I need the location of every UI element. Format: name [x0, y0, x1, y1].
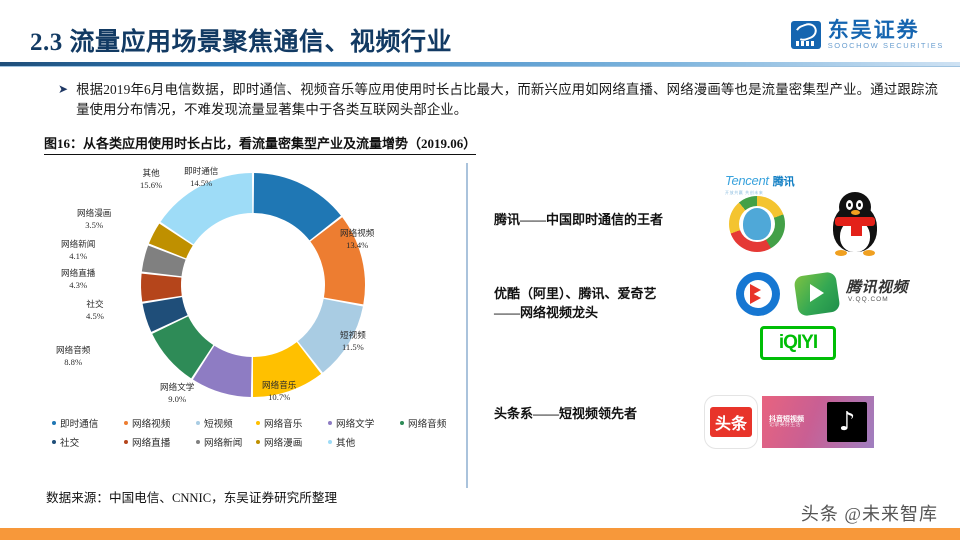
- legend-item-7[interactable]: 网络直播: [124, 435, 196, 449]
- legend-dot-icon: [124, 440, 128, 444]
- legend-dot-icon: [196, 421, 200, 425]
- legend-dot-icon: [52, 421, 56, 425]
- pie-label-im: 即时通信14.5%: [184, 166, 218, 189]
- legend-item-10[interactable]: 其他: [328, 435, 400, 449]
- pie-label-comic: 网络漫画3.5%: [77, 208, 111, 231]
- legend-item-5[interactable]: 网络音频: [400, 416, 472, 430]
- bottom-accent-strip: [0, 528, 960, 540]
- annotation-video: 优酷（阿里）、腾讯、爱奇艺 ——网络视频龙头: [494, 284, 657, 322]
- legend-row: 即时通信网络视频短视频网络音乐网络文学网络音频: [52, 416, 472, 430]
- pie-label-news: 网络新闻4.1%: [61, 239, 95, 262]
- legend-dot-icon: [124, 421, 128, 425]
- pie-label-other: 其他15.6%: [140, 168, 162, 191]
- legend-item-6[interactable]: 社交: [52, 435, 124, 449]
- legend-item-1[interactable]: 网络视频: [124, 416, 196, 430]
- legend-label: 即时通信: [60, 416, 98, 430]
- legend-label: 其他: [336, 435, 355, 449]
- brand-name-cn: 东吴证券: [828, 19, 944, 41]
- figure-source: 数据来源：中国电信、CNNIC，东吴证券研究所整理: [46, 487, 337, 506]
- tencent-video-url: V.QQ.COM: [848, 296, 889, 303]
- legend-item-4[interactable]: 网络文学: [328, 416, 400, 430]
- douyin-app-icon: ♪: [827, 402, 867, 442]
- donut-svg: [138, 170, 368, 400]
- tencent-video-name: 腾讯视频: [846, 276, 908, 297]
- tencent-logo-cn: 腾讯: [773, 176, 795, 188]
- donut-chart: [138, 170, 368, 400]
- legend-row: 社交网络直播网络新闻网络漫画其他: [52, 435, 472, 449]
- bullet-arrow-icon: ➤: [58, 80, 68, 119]
- watermark: 头条 @未来智库: [801, 500, 938, 526]
- legend-label: 网络音频: [408, 416, 446, 430]
- youku-logo: [736, 272, 782, 318]
- pie-label-audio: 网络音频8.8%: [56, 345, 90, 368]
- iqiyi-logo: iQIYI: [760, 326, 836, 360]
- pie-label-literature: 网络文学9.0%: [160, 382, 194, 405]
- pie-label-shortvideo: 短视频11.5%: [340, 330, 366, 353]
- legend-dot-icon: [52, 440, 56, 444]
- legend-label: 网络漫画: [264, 435, 302, 449]
- legend-item-0[interactable]: 即时通信: [52, 416, 124, 430]
- legend-dot-icon: [196, 440, 200, 444]
- legend-label: 网络新闻: [204, 435, 242, 449]
- legend-dot-icon: [400, 421, 404, 425]
- douyin-tagline: 记录美好生活: [769, 423, 827, 429]
- tencent-logo-tagline: 开放共赢 共创未来: [725, 190, 817, 196]
- legend-item-8[interactable]: 网络新闻: [196, 435, 256, 449]
- donut-slice-7: [141, 274, 182, 302]
- legend-label: 网络视频: [132, 416, 170, 430]
- header-divider-thin: [0, 66, 960, 67]
- qq-penguin-logo: [825, 190, 887, 262]
- pie-label-music: 网络音乐10.7%: [262, 380, 296, 403]
- douyin-note-icon: ♪: [839, 409, 856, 435]
- slide-header: 2.3 流量应用场景聚焦通信、视频行业 东吴证券 SOOCHOW SECURIT…: [0, 0, 960, 70]
- tencent-logo: Tencent 腾讯 开放共赢 共创未来: [725, 172, 815, 252]
- legend-label: 网络文学: [336, 416, 374, 430]
- donut-chart-area: 即时通信14.5% 网络视频13.4% 短视频11.5% 网络音乐10.7% 网…: [30, 160, 470, 480]
- annotation-tencent: 腾讯——中国即时通信的王者: [494, 210, 663, 229]
- annotation-toutiao: 头条系——短视频领先者: [494, 404, 637, 423]
- play-triangle-icon: [810, 284, 824, 302]
- page-title: 2.3 流量应用场景聚焦通信、视频行业: [30, 22, 452, 58]
- legend-dot-icon: [328, 421, 332, 425]
- figure-title: 图16：从各类应用使用时长占比，看流量密集型产业及流量增势（2019.06）: [44, 133, 476, 155]
- tencent-video-logo: 腾讯视频 V.QQ.COM: [796, 272, 946, 318]
- legend-dot-icon: [328, 440, 332, 444]
- panel-divider: [466, 163, 468, 488]
- legend-label: 短视频: [204, 416, 233, 430]
- chart-legend: 即时通信网络视频短视频网络音乐网络文学网络音频社交网络直播网络新闻网络漫画其他: [52, 416, 472, 454]
- tencent-logo-en: Tencent: [725, 173, 769, 188]
- bullet-paragraph: ➤ 根据2019年6月电信数据，即时通信、视频音乐等应用使用时长占比最大，而新兴…: [58, 80, 938, 119]
- pie-label-live: 网络直播4.3%: [61, 268, 95, 291]
- pie-label-social: 社交4.5%: [86, 299, 104, 322]
- toutiao-logo: 头条: [705, 396, 757, 448]
- legend-label: 网络音乐: [264, 416, 302, 430]
- brand-logo: 东吴证券 SOOCHOW SECURITIES: [791, 18, 944, 52]
- bullet-body-text: 根据2019年6月电信数据，即时通信、视频音乐等应用使用时长占比最大，而新兴应用…: [76, 80, 938, 119]
- legend-item-2[interactable]: 短视频: [196, 416, 256, 430]
- tencent-penguin-icon: [743, 208, 771, 240]
- legend-item-3[interactable]: 网络音乐: [256, 416, 328, 430]
- legend-dot-icon: [256, 440, 260, 444]
- youku-arrow-icon: [749, 283, 769, 305]
- brand-name-en: SOOCHOW SECURITIES: [828, 41, 944, 51]
- toutiao-wordmark: 头条: [715, 410, 747, 434]
- legend-item-9[interactable]: 网络漫画: [256, 435, 328, 449]
- soochow-mark-icon: [791, 21, 821, 49]
- legend-dot-icon: [256, 421, 260, 425]
- pie-label-video: 网络视频13.4%: [340, 228, 374, 251]
- douyin-logo: 抖音短视频 记录美好生活 ♪: [762, 396, 874, 448]
- iqiyi-wordmark: iQIYI: [779, 332, 817, 354]
- legend-label: 网络直播: [132, 435, 170, 449]
- legend-label: 社交: [60, 435, 79, 449]
